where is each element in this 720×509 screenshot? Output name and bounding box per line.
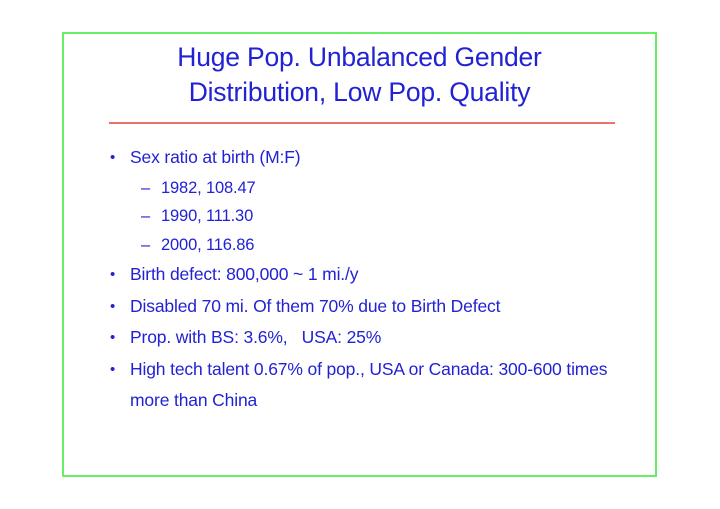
- bullet-item: •Disabled 70 mi. Of them 70% due to Birt…: [110, 291, 650, 323]
- bullet-text: Sex ratio at birth (M:F): [130, 142, 650, 174]
- slide-body: •Sex ratio at birth (M:F)–1982, 108.47–1…: [110, 142, 650, 417]
- slide-title: Huge Pop. Unbalanced Gender Distribution…: [64, 40, 655, 110]
- bullet-text: Birth defect: 800,000 ~ 1 mi./y: [130, 259, 650, 291]
- bullet-text: 2000, 116.86: [161, 231, 650, 260]
- bullet-dot-icon: •: [110, 322, 130, 354]
- sub-bullet-item: –1982, 108.47: [141, 174, 650, 203]
- bullet-text: 1990, 111.30: [161, 202, 650, 231]
- bullet-dash-icon: –: [141, 202, 161, 231]
- bullet-dot-icon: •: [110, 291, 130, 323]
- bullet-text: 1982, 108.47: [161, 174, 650, 203]
- sub-bullet-item: –2000, 116.86: [141, 231, 650, 260]
- bullet-item: •Prop. with BS: 3.6%, USA: 25%: [110, 322, 650, 354]
- bullet-dot-icon: •: [110, 354, 130, 386]
- title-divider-rule: [109, 122, 615, 124]
- title-line-2: Distribution, Low Pop. Quality: [64, 75, 655, 110]
- bullet-item: •Sex ratio at birth (M:F): [110, 142, 650, 174]
- bullet-dot-icon: •: [110, 259, 130, 291]
- bullet-item: •High tech talent 0.67% of pop., USA or …: [110, 354, 650, 417]
- bullet-dash-icon: –: [141, 174, 161, 203]
- bullet-item: •Birth defect: 800,000 ~ 1 mi./y: [110, 259, 650, 291]
- bullet-text: Disabled 70 mi. Of them 70% due to Birth…: [130, 291, 650, 323]
- bullet-text: Prop. with BS: 3.6%, USA: 25%: [130, 322, 650, 354]
- bullet-dash-icon: –: [141, 231, 161, 260]
- bullet-text: High tech talent 0.67% of pop., USA or C…: [130, 354, 650, 417]
- sub-bullet-item: –1990, 111.30: [141, 202, 650, 231]
- title-line-1: Huge Pop. Unbalanced Gender: [64, 40, 655, 75]
- slide-frame: Huge Pop. Unbalanced Gender Distribution…: [62, 32, 657, 477]
- bullet-dot-icon: •: [110, 142, 130, 174]
